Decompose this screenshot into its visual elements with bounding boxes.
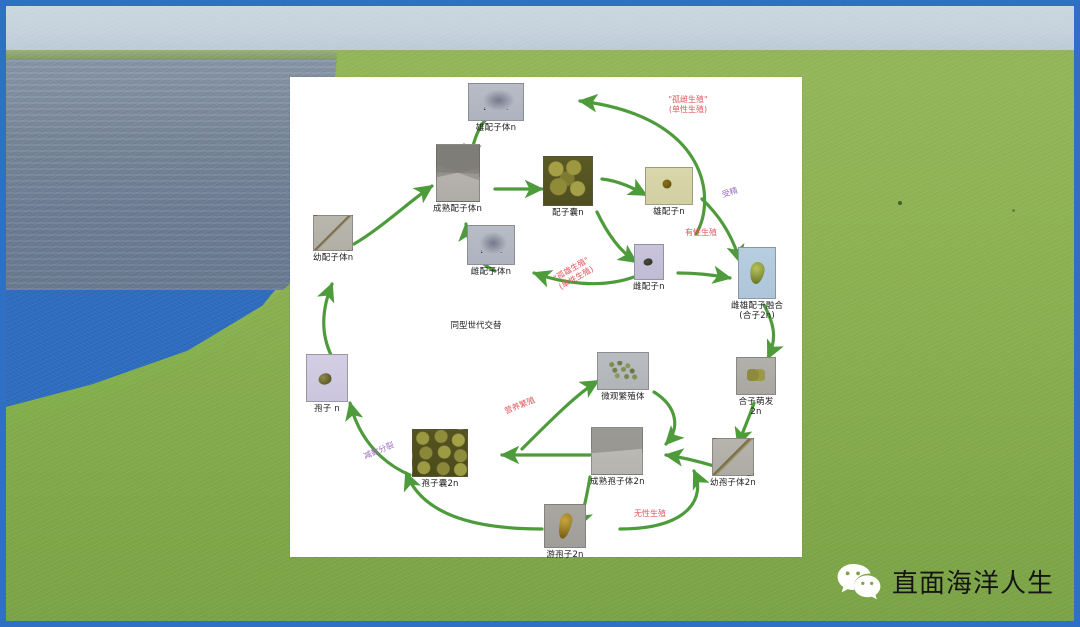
annotation-meiosis: 减数分裂: [353, 437, 405, 466]
arrow-propagule-to-mature-sporophyte: [654, 392, 675, 444]
node-label: 雌雄配子融合 (合子2n): [731, 301, 783, 321]
male-gamete-thumbnail: [645, 167, 693, 205]
node-label: 幼孢子体2n: [710, 478, 756, 488]
node-female-gamete[interactable]: 雌配子n: [633, 244, 665, 292]
annotation-asexual-reproduction: 无性生殖: [622, 509, 678, 519]
node-gametangium[interactable]: 配子囊n: [543, 156, 593, 218]
female-gametophyte-thumbnail: [467, 225, 515, 265]
node-male-gametophyte[interactable]: 雄配子体n: [468, 83, 524, 133]
mature-gametophyte-thumbnail: [436, 144, 480, 202]
node-label: 孢子囊2n: [421, 479, 458, 489]
screenshot-root: 雄配子体n 成熟配子体n 幼配子体n 雌配子体n 配子囊n 雄配子n: [0, 0, 1080, 627]
node-zoospore[interactable]: 游孢子2n: [544, 504, 586, 560]
node-label: 配子囊n: [552, 208, 584, 218]
node-label: 雄配子n: [653, 207, 685, 217]
annotation-isomorphic-alternation: 同型世代交替: [438, 321, 514, 331]
node-female-gametophyte[interactable]: 雌配子体n: [467, 225, 515, 277]
node-label: 孢子 n: [314, 404, 340, 414]
male-gametophyte-thumbnail: [468, 83, 524, 121]
life-cycle-diagram: 雄配子体n 成熟配子体n 幼配子体n 雌配子体n 配子囊n 雄配子n: [290, 77, 802, 557]
sporangium-thumbnail: [412, 429, 468, 477]
node-label: 合子萌发 2n: [739, 397, 774, 417]
node-label: 雌配子体n: [471, 267, 511, 277]
wechat-icon: [836, 561, 882, 601]
life-cycle-diagram-card: 雄配子体n 成熟配子体n 幼配子体n 雌配子体n 配子囊n 雄配子n: [290, 77, 802, 557]
node-gamete-fusion[interactable]: 雌雄配子融合 (合子2n): [731, 247, 783, 321]
node-zygote-germination[interactable]: 合子萌发 2n: [736, 357, 776, 417]
annotation-vegetative-reproduction: 营养繁殖: [494, 392, 546, 421]
arrow-gametangium-to-male-gamete: [602, 179, 646, 195]
node-label: 成熟配子体n: [433, 204, 482, 214]
node-sporangium[interactable]: 孢子囊2n: [412, 429, 468, 489]
mature-sporophyte-thumbnail: [591, 427, 643, 475]
zygote-germination-thumbnail: [736, 357, 776, 395]
arrow-spore-to-young-gametophyte: [324, 284, 332, 357]
young-sporophyte-thumbnail: [712, 438, 754, 476]
field-speck: [1012, 209, 1015, 212]
node-male-gamete[interactable]: 雄配子n: [645, 167, 693, 217]
microscopic-propagule-thumbnail: [597, 352, 649, 390]
annotation-parthenogenesis-top: "孤雌生殖" (单性生殖): [646, 95, 730, 115]
node-microscopic-propagule[interactable]: 微观繁殖体: [597, 352, 649, 402]
arrow-vegetative-to-propagule: [522, 381, 598, 449]
wechat-footer[interactable]: 直面海洋人生: [836, 561, 1054, 601]
gametangium-thumbnail: [543, 156, 593, 206]
female-gamete-thumbnail: [634, 244, 664, 280]
node-young-gametophyte[interactable]: 幼配子体n: [313, 215, 353, 263]
spore-thumbnail: [306, 354, 348, 402]
arrow-young-to-mature-sporophyte: [666, 455, 714, 466]
node-label: 微观繁殖体: [601, 392, 645, 402]
node-young-sporophyte[interactable]: 幼孢子体2n: [710, 438, 756, 488]
node-spore[interactable]: 孢子 n: [306, 354, 348, 414]
node-label: 游孢子2n: [546, 550, 583, 560]
annotation-fertilization: 受精: [715, 184, 745, 202]
node-label: 雌配子n: [633, 282, 665, 292]
arrow-young-to-mature-gametophyte: [354, 186, 432, 244]
node-label: 幼配子体n: [313, 253, 353, 263]
annotation-sexual-reproduction: 有性生殖: [673, 228, 729, 238]
annotation-parthenogenesis-mid: "孤雄生殖" (单性生殖): [539, 248, 610, 300]
young-gametophyte-thumbnail: [313, 215, 353, 251]
node-label: 雄配子体n: [476, 123, 516, 133]
field-speck: [898, 201, 902, 205]
node-mature-sporophyte[interactable]: 成熟孢子体2n: [590, 427, 645, 487]
gamete-fusion-thumbnail: [738, 247, 776, 299]
wechat-account-name: 直面海洋人生: [892, 563, 1054, 600]
node-mature-gametophyte[interactable]: 成熟配子体n: [433, 144, 482, 214]
zoospore-thumbnail: [544, 504, 586, 548]
arrow-female-gamete-to-fusion: [678, 273, 730, 278]
node-label: 成熟孢子体2n: [590, 477, 645, 487]
